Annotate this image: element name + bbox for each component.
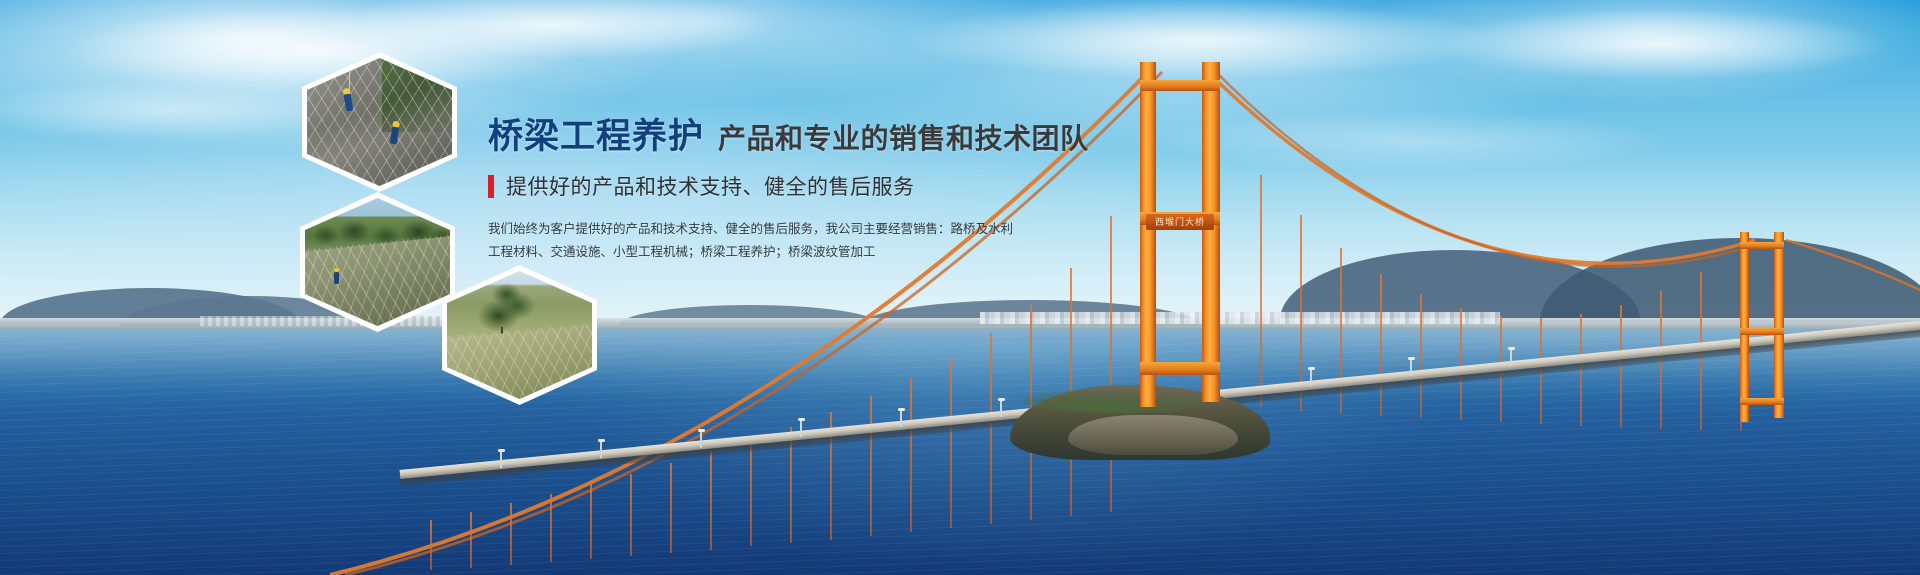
deck-lamp bbox=[900, 411, 902, 427]
deck-lamp bbox=[600, 442, 602, 458]
deck-lamp bbox=[800, 421, 802, 437]
hex-photo-vegetated-slope-mesh[interactable] bbox=[442, 265, 597, 405]
deck-lamp bbox=[700, 432, 702, 448]
deck-lamp bbox=[1310, 370, 1312, 386]
deck-lamp bbox=[500, 452, 502, 468]
deck-lamp bbox=[1510, 350, 1512, 366]
banner-subline: 提供好的产品和技术支持、健全的售后服务 bbox=[488, 171, 1048, 201]
banner-body-copy: 我们始终为客户提供好的产品和技术支持、健全的售后服务，我公司主要经营销售：路桥及… bbox=[488, 217, 888, 263]
deck-lamp bbox=[1000, 401, 1002, 417]
hex-photo-rockfall-netting-workers[interactable] bbox=[302, 52, 457, 192]
tower-plaque-label: 西堠门大桥 bbox=[1146, 215, 1214, 228]
banner-text-block: 桥梁工程养护产品和专业的销售和技术团队 提供好的产品和技术支持、健全的售后服务 … bbox=[488, 120, 1048, 263]
hero-banner: 西堠门大桥 bbox=[0, 0, 1920, 575]
bridge-far-tower bbox=[1740, 232, 1786, 422]
bridge-main-tower: 西堠门大桥 bbox=[1140, 62, 1224, 407]
banner-headline: 桥梁工程养护产品和专业的销售和技术团队 bbox=[488, 120, 1048, 155]
bridge-hanger-rods bbox=[0, 0, 1920, 575]
body-line-1: 我们始终为客户提供好的产品和技术支持、健全的售后服务，我公司主要经营销售：路桥及… bbox=[488, 217, 888, 240]
deck-lamp bbox=[1410, 360, 1412, 376]
subline-text: 提供好的产品和技术支持、健全的售后服务 bbox=[506, 171, 915, 201]
headline-secondary: 产品和专业的销售和技术团队 bbox=[718, 122, 1089, 155]
headline-primary: 桥梁工程养护 bbox=[488, 117, 704, 157]
tower-plaque: 西堠门大桥 bbox=[1146, 214, 1214, 230]
body-line-2: 工程材料、交通设施、小型工程机械；桥梁工程养护；桥梁波纹管加工 bbox=[488, 240, 888, 263]
accent-bar-icon bbox=[488, 175, 494, 198]
hex-photo-hillside-slope-protection[interactable] bbox=[300, 192, 455, 332]
suspension-bridge: 西堠门大桥 bbox=[0, 0, 1920, 575]
